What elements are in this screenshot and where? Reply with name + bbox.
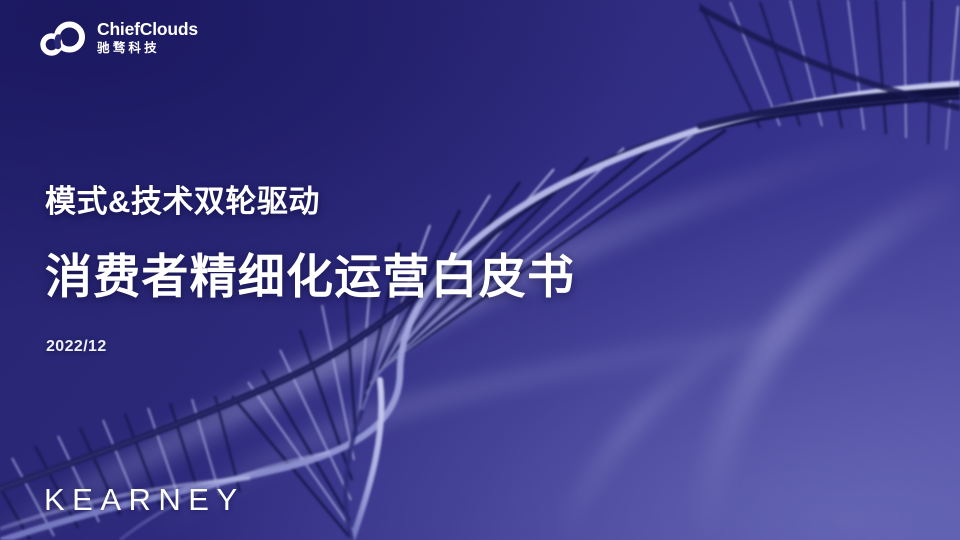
publication-date: 2022/12 bbox=[46, 338, 107, 356]
logo-brand-name: ChiefClouds bbox=[97, 20, 198, 39]
chiefclouds-logo: ChiefClouds 驰骛科技 bbox=[38, 16, 198, 61]
kearney-wordmark: KEARNEY bbox=[44, 484, 245, 515]
slide-subtitle: 模式&技术双轮驱动 bbox=[45, 183, 575, 220]
page-title: 消费者精细化运营白皮书 bbox=[45, 249, 575, 304]
interlocking-rings-icon bbox=[38, 16, 88, 61]
title-slide: ChiefClouds 驰骛科技 模式&技术双轮驱动 消费者精细化运营白皮书 2… bbox=[0, 0, 960, 540]
headline-block: 模式&技术双轮驱动 消费者精细化运营白皮书 bbox=[45, 183, 575, 305]
logo-text-block: ChiefClouds 驰骛科技 bbox=[97, 20, 198, 56]
logo-brand-name-cn: 驰骛科技 bbox=[97, 41, 198, 57]
